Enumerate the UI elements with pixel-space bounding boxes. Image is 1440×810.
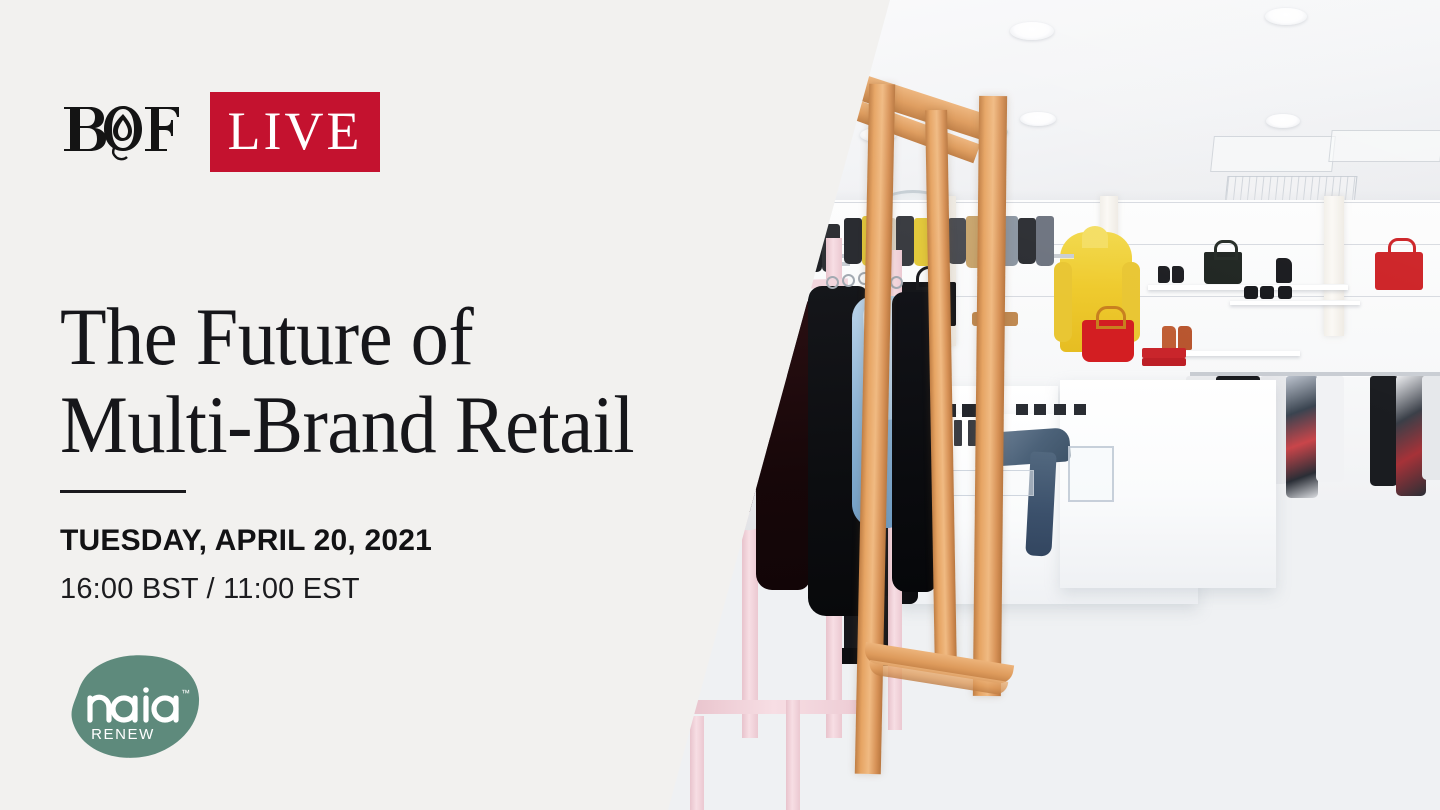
bof-logo[interactable] — [61, 101, 181, 163]
text-panel: LIVE The Future of Multi-Brand Retail TU… — [0, 0, 700, 810]
page-title-line1: The Future of — [60, 291, 473, 382]
event-date: TUESDAY, APRIL 20, 2021 — [60, 524, 432, 558]
divider — [60, 490, 186, 493]
naia-trademark: ™ — [181, 688, 190, 698]
page-title: The Future of Multi-Brand Retail — [60, 293, 711, 470]
page-title-line2: Multi-Brand Retail — [60, 381, 711, 470]
ceiling — [630, 0, 1440, 216]
store-photo-scene — [630, 0, 1440, 810]
promo-banner: LIVE The Future of Multi-Brand Retail TU… — [0, 0, 1440, 810]
live-badge-label: LIVE — [228, 104, 363, 161]
live-badge: LIVE — [210, 92, 380, 172]
naia-sub-label: RENEW — [91, 726, 155, 743]
brand-row: LIVE — [61, 92, 380, 172]
wooden-frame-post-right — [973, 96, 1007, 696]
naia-renew-logo[interactable]: ™ RENEW — [60, 652, 206, 762]
event-time: 16:00 BST / 11:00 EST — [60, 573, 360, 606]
